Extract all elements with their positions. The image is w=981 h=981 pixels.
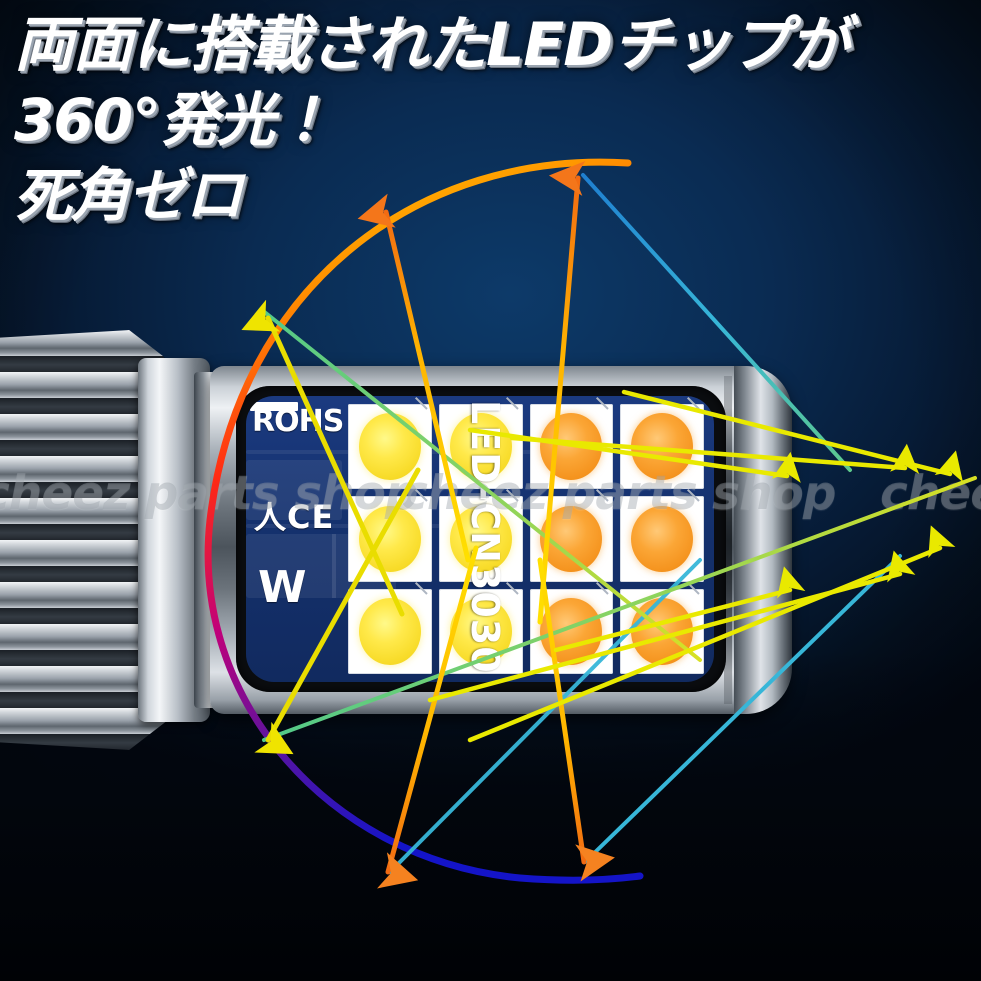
led-chip bbox=[348, 496, 432, 581]
led-chip bbox=[348, 404, 432, 489]
led-bulb-graphic: ROHS 人CE W LED-CN3030 bbox=[0, 330, 816, 750]
led-chip-polarity-mark bbox=[596, 489, 609, 502]
led-chip-grid bbox=[348, 404, 704, 674]
led-chip bbox=[620, 589, 704, 674]
led-chip-dot bbox=[631, 413, 693, 480]
led-chip-dot bbox=[540, 598, 602, 665]
led-chip bbox=[620, 404, 704, 489]
led-chip-dot bbox=[540, 413, 602, 480]
product-image-canvas: 両面に搭載されたLEDチップが 360°発光！ 死角ゼロ ROHS 人CE W bbox=[0, 0, 981, 981]
led-chip-polarity-mark bbox=[596, 582, 609, 595]
led-chip bbox=[530, 589, 614, 674]
certification-marks: ROHS 人CE W bbox=[250, 402, 346, 676]
heatsink-fin bbox=[0, 330, 166, 356]
ce-mark: 人CE bbox=[254, 492, 334, 538]
led-chip bbox=[530, 404, 614, 489]
led-chip-dot bbox=[631, 506, 693, 573]
bulb-end-cap bbox=[734, 366, 792, 714]
led-chip-polarity-mark bbox=[687, 582, 700, 595]
led-chip-dot bbox=[631, 598, 693, 665]
led-chip bbox=[620, 496, 704, 581]
led-chip-dot bbox=[540, 506, 602, 573]
led-chip-polarity-mark bbox=[415, 489, 428, 502]
led-chip-polarity-mark bbox=[415, 582, 428, 595]
rohs-mark: ROHS bbox=[252, 404, 343, 439]
led-chip-dot bbox=[359, 506, 421, 573]
heatsink-gap bbox=[0, 734, 164, 750]
led-chip-polarity-mark bbox=[415, 397, 428, 410]
wattage-mark: W bbox=[258, 562, 307, 613]
model-label-text: LED-CN3030 bbox=[463, 400, 507, 674]
led-chip bbox=[348, 589, 432, 674]
led-chip-polarity-mark bbox=[596, 397, 609, 410]
led-chip-dot bbox=[359, 413, 421, 480]
led-chip-dot bbox=[359, 598, 421, 665]
led-chip-polarity-mark bbox=[687, 489, 700, 502]
led-chip bbox=[530, 496, 614, 581]
led-chip-polarity-mark bbox=[687, 397, 700, 410]
model-label: LED-CN3030 bbox=[458, 394, 512, 680]
